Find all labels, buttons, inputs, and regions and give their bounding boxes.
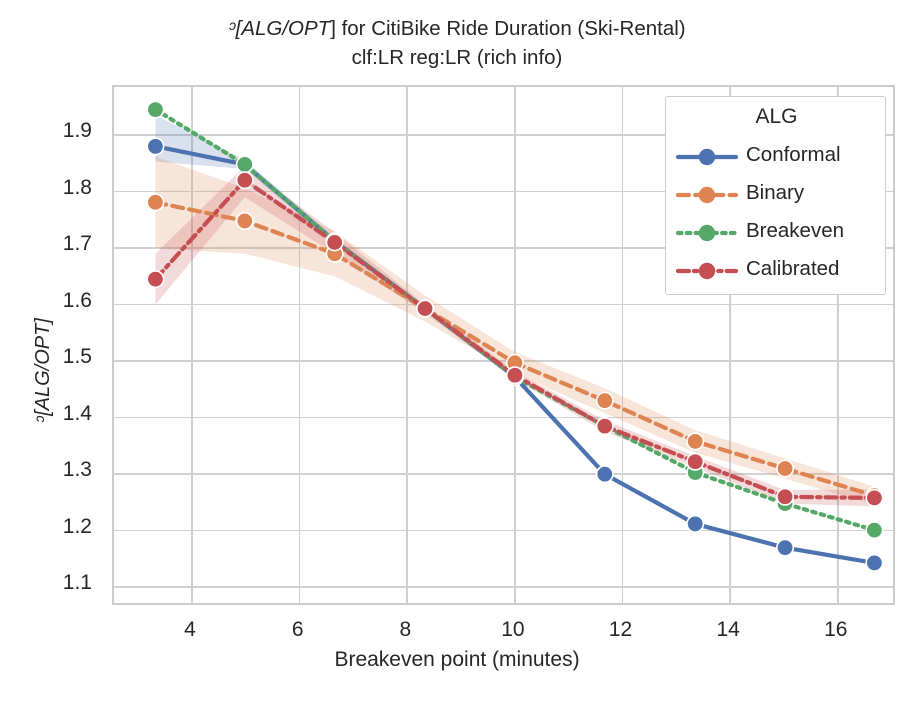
data-point-marker <box>866 555 882 571</box>
x-tick-label: 14 <box>693 618 763 642</box>
data-point-marker <box>777 489 793 505</box>
data-point-marker <box>237 172 253 188</box>
chart-title: ᵓ[ALG/OPT] for CitiBike Ride Duration (S… <box>0 14 914 72</box>
data-point-marker <box>866 522 882 538</box>
legend-label: Calibrated <box>746 257 839 281</box>
title-line-1: ᵓ[ALG/OPT] for CitiBike Ride Duration (S… <box>0 14 914 43</box>
x-axis-label: Breakeven point (minutes) <box>0 648 914 672</box>
legend-item-binary[interactable]: Binary <box>666 177 887 213</box>
title-math-alg: ALG/OPT <box>241 17 330 40</box>
y-tick-label: 1.2 <box>0 515 92 539</box>
data-point-marker <box>866 490 882 506</box>
data-point-marker <box>417 300 433 316</box>
y-tick-label: 1.1 <box>0 571 92 595</box>
legend-swatch-icon <box>676 215 738 251</box>
legend-label: Conformal <box>746 143 841 167</box>
legend-label: Breakeven <box>746 219 844 243</box>
legend: ALG ConformalBinaryBreakevenCalibrated <box>665 96 886 295</box>
data-point-marker <box>687 454 703 470</box>
legend-label: Binary <box>746 181 804 205</box>
data-point-marker <box>687 433 703 449</box>
data-point-marker <box>237 156 253 172</box>
data-point-marker <box>326 234 342 250</box>
x-tick-label: 8 <box>370 618 440 642</box>
legend-item-breakeven[interactable]: Breakeven <box>666 215 887 251</box>
x-tick-label: 16 <box>801 618 871 642</box>
legend-swatch-icon <box>676 177 738 213</box>
x-tick-label: 6 <box>263 618 333 642</box>
data-point-marker <box>147 138 163 154</box>
y-tick-label: 1.6 <box>0 289 92 313</box>
legend-swatch-icon <box>676 253 738 289</box>
data-point-marker <box>687 516 703 532</box>
data-point-marker <box>597 466 613 482</box>
x-tick-label: 12 <box>586 618 656 642</box>
data-point-marker <box>147 101 163 117</box>
title-rest: ] for CitiBike Ride Duration (Ski-Rental… <box>330 17 685 40</box>
x-tick-label: 4 <box>155 618 225 642</box>
data-point-marker <box>597 418 613 434</box>
data-point-marker <box>597 392 613 408</box>
y-axis-label: ᵓ[ALG/OPT] <box>32 318 55 423</box>
title-line-2: clf:LR reg:LR (rich info) <box>0 43 914 72</box>
legend-title: ALG <box>666 105 887 129</box>
data-point-marker <box>147 271 163 287</box>
legend-swatch-icon <box>676 139 738 175</box>
legend-item-conformal[interactable]: Conformal <box>666 139 887 175</box>
y-tick-label: 1.8 <box>0 176 92 200</box>
data-point-marker <box>237 213 253 229</box>
x-tick-label: 10 <box>478 618 548 642</box>
legend-item-calibrated[interactable]: Calibrated <box>666 253 887 289</box>
title-math-e: ᵓ[ <box>228 17 241 40</box>
figure: ᵓ[ALG/OPT] for CitiBike Ride Duration (S… <box>0 0 914 704</box>
data-point-marker <box>147 194 163 210</box>
data-point-marker <box>507 367 523 383</box>
y-tick-label: 1.7 <box>0 232 92 256</box>
y-tick-label: 1.3 <box>0 458 92 482</box>
data-point-marker <box>777 460 793 476</box>
data-point-marker <box>777 539 793 555</box>
y-tick-label: 1.9 <box>0 119 92 143</box>
